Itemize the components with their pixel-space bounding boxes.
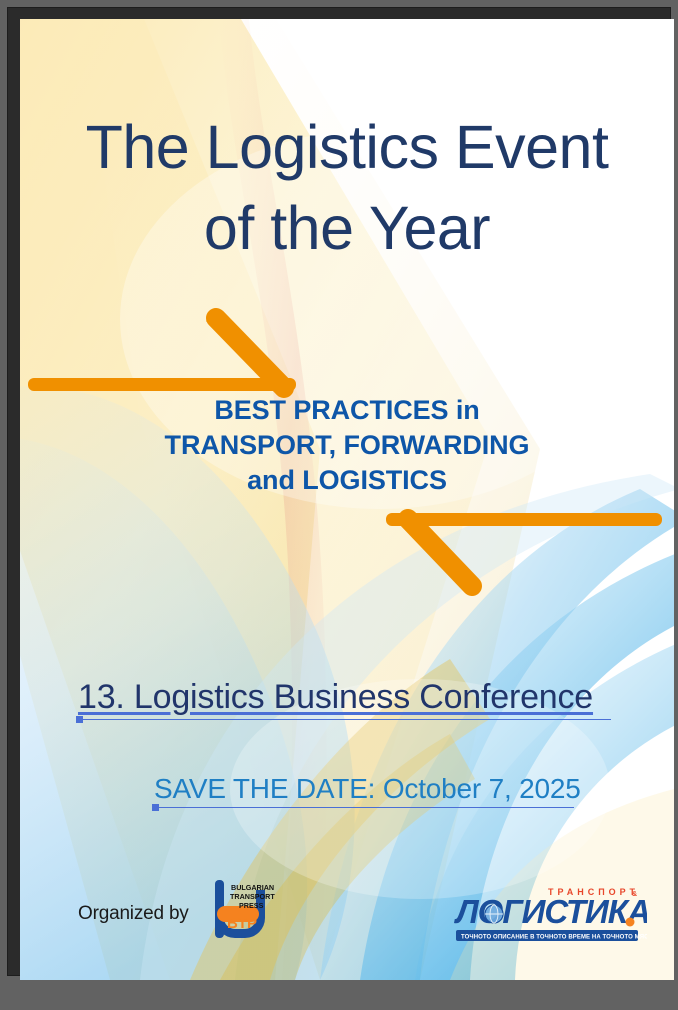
poster-slide: The Logistics Event of the Year BEST PRA… (20, 19, 674, 980)
btp-line1: BULGARIAN (231, 883, 274, 892)
slide-viewer: The Logistics Event of the Year BEST PRA… (0, 0, 678, 1010)
arrow-chevron-right-icon (28, 312, 296, 394)
link-anchor-square-icon (152, 804, 159, 811)
logistika-wordmark: ЛОГИСТИКА (454, 893, 647, 930)
arrow-chevron-left-icon (386, 513, 662, 586)
page-title: The Logistics Event of the Year (52, 107, 642, 269)
link-anchor-square-icon (76, 716, 83, 723)
btp-logo: BULGARIAN TRANSPORT PRESS BTP (203, 876, 275, 948)
poster-subtitle: BEST PRACTICES in TRANSPORT, FORWARDING … (64, 393, 630, 498)
save-the-date-link[interactable]: SAVE THE DATE: October 7, 2025 (154, 774, 624, 805)
btp-line2: TRANSPORT (230, 892, 275, 901)
organized-by-label: Organized by (78, 903, 189, 925)
date-link-underline (154, 807, 574, 808)
conference-link-underline (78, 719, 611, 720)
conference-title-link[interactable]: 13. Logistics Business Conference (78, 679, 658, 716)
logistika-tagline: ТОЧНОТО ОПИСАНИЕ В ТОЧНОТО ВРЕМЕ НА ТОЧН… (461, 934, 647, 940)
slide-frame: The Logistics Event of the Year BEST PRA… (8, 8, 670, 975)
btp-mark: BTP (227, 915, 257, 932)
logistika-logo: ТРАНСПОРТ & ЛОГИСТИКА ТОЧНОТО ОПИСАНИЕ В… (452, 881, 647, 947)
btp-line3: PRESS (239, 901, 264, 910)
